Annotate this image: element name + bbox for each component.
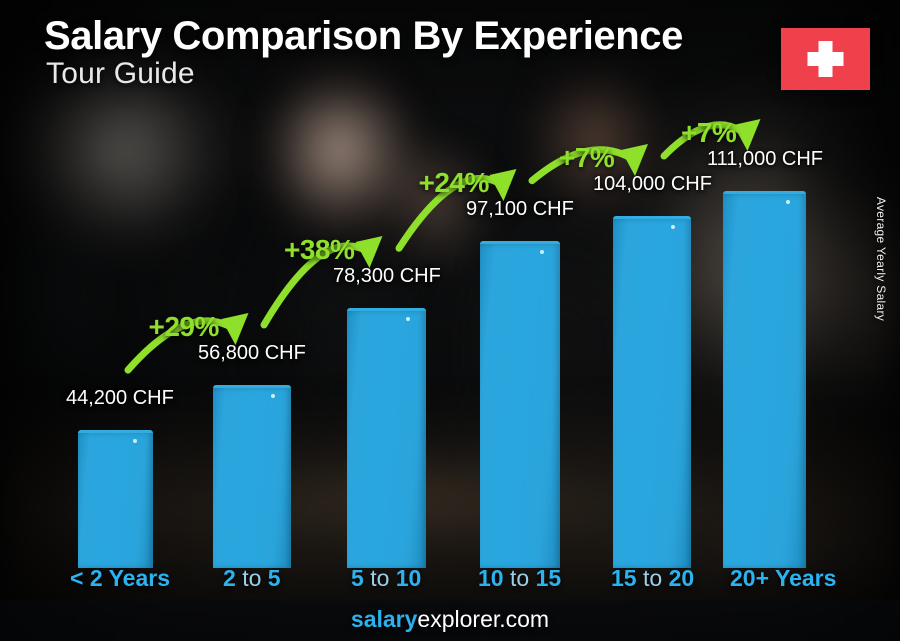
bar-highlight-dot xyxy=(406,317,410,321)
bar-value-label-1: 44,200 CHF xyxy=(66,387,174,410)
y-axis-caption: Average Yearly Salary xyxy=(874,184,888,334)
x-axis-label-2: 2 to 5 xyxy=(223,565,281,592)
bar-highlight-dot xyxy=(540,250,544,254)
bar-front-face xyxy=(480,244,560,568)
growth-percent-label-5: +7% xyxy=(681,117,736,149)
x-axis-label-6: 20+ Years xyxy=(730,565,836,592)
x-axis-label-3: 5 to 10 xyxy=(351,565,421,592)
x-axis-labels: < 2 Years2 to 55 to 1010 to 1515 to 2020… xyxy=(0,565,900,599)
x-axis-label-1: < 2 Years xyxy=(70,565,170,592)
x-label-lead: 5 xyxy=(351,565,364,591)
growth-arrow-5: +7% xyxy=(662,95,763,185)
growth-arrow-4: +7% xyxy=(530,120,650,210)
switzerland-flag-icon xyxy=(781,28,870,90)
x-label-connector: to xyxy=(510,565,529,591)
growth-percent-label-1: +29% xyxy=(149,311,219,343)
bar-4 xyxy=(480,233,560,568)
x-label-connector: to xyxy=(643,565,662,591)
x-label-lead: 20+ xyxy=(730,565,769,591)
x-label-tail: Years xyxy=(775,565,836,591)
x-label-connector: to xyxy=(242,565,261,591)
x-label-lead: 2 xyxy=(223,565,236,591)
bar-2 xyxy=(213,377,291,568)
bar-6 xyxy=(723,183,806,568)
plot-area: 44,200 CHF56,800 CHF78,300 CHF97,100 CHF… xyxy=(0,0,900,641)
brand-name: salary xyxy=(351,606,418,632)
bar-front-face xyxy=(213,388,291,568)
bar-front-face xyxy=(347,311,426,568)
x-label-tail: 15 xyxy=(536,565,562,591)
bar-1 xyxy=(78,422,153,568)
growth-arrow-1: +29% xyxy=(126,289,251,379)
growth-percent-label-3: +24% xyxy=(419,167,489,199)
bar-3 xyxy=(347,300,426,568)
x-axis-label-4: 10 to 15 xyxy=(478,565,561,592)
brand-domain: explorer.com xyxy=(417,606,549,632)
x-label-lead: 10 xyxy=(478,565,504,591)
salary-comparison-chart: Salary Comparison By Experience Tour Gui… xyxy=(0,0,900,641)
x-label-connector: to xyxy=(370,565,389,591)
page-title: Salary Comparison By Experience xyxy=(44,14,683,59)
bar-highlight-dot xyxy=(786,200,790,204)
growth-arrow-3: +24% xyxy=(397,145,519,235)
bar-highlight-dot xyxy=(133,439,137,443)
bar-highlight-dot xyxy=(271,394,275,398)
x-axis-label-5: 15 to 20 xyxy=(611,565,694,592)
x-label-lead: < 2 xyxy=(70,565,103,591)
x-label-lead: 15 xyxy=(611,565,637,591)
x-label-tail: 5 xyxy=(268,565,281,591)
x-label-tail: Years xyxy=(109,565,170,591)
bar-front-face xyxy=(78,433,153,568)
bar-front-face xyxy=(613,219,691,568)
growth-arrow-2: +38% xyxy=(262,212,385,302)
site-watermark: salaryexplorer.com xyxy=(0,606,900,633)
job-title-subtitle: Tour Guide xyxy=(46,57,195,91)
growth-percent-label-2: +38% xyxy=(284,234,354,266)
x-label-tail: 20 xyxy=(669,565,695,591)
growth-percent-label-4: +7% xyxy=(559,142,614,174)
bar-highlight-dot xyxy=(671,225,675,229)
bar-5 xyxy=(613,208,691,568)
bar-front-face xyxy=(723,194,806,568)
x-label-tail: 10 xyxy=(396,565,422,591)
